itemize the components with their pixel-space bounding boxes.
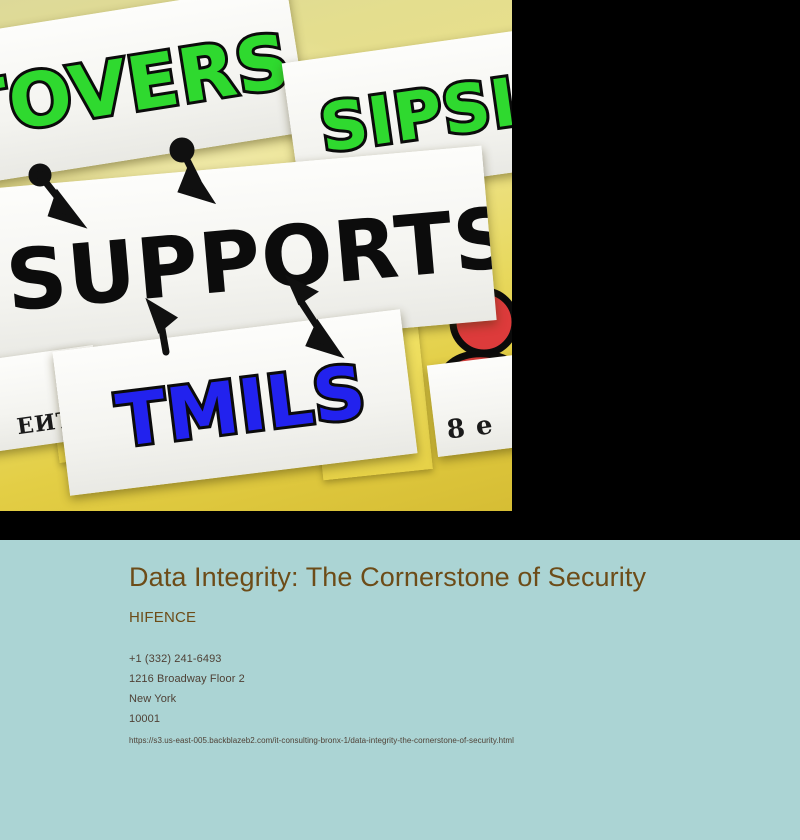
source-url[interactable]: https://s3.us-east-005.backblazeb2.com/i…: [129, 735, 770, 747]
contact-city: New York: [129, 689, 770, 709]
arrow-overlay: [0, 0, 512, 511]
hero-image: TOVERS SIPSID SUPPORTS EИTB 8 e TMILS: [0, 0, 512, 511]
contact-phone: +1 (332) 241-6493: [129, 649, 770, 669]
organization-name: HIFENCE: [129, 609, 770, 627]
contact-address: 1216 Broadway Floor 2: [129, 669, 770, 689]
contact-postal-code: 10001: [129, 709, 770, 729]
content-panel-inner: Data Integrity: The Cornerstone of Secur…: [129, 562, 770, 747]
page-root: TOVERS SIPSID SUPPORTS EИTB 8 e TMILS: [0, 0, 800, 840]
content-panel: Data Integrity: The Cornerstone of Secur…: [0, 540, 800, 840]
contact-block: +1 (332) 241-6493 1216 Broadway Floor 2 …: [129, 649, 770, 729]
page-title: Data Integrity: The Cornerstone of Secur…: [129, 562, 649, 593]
